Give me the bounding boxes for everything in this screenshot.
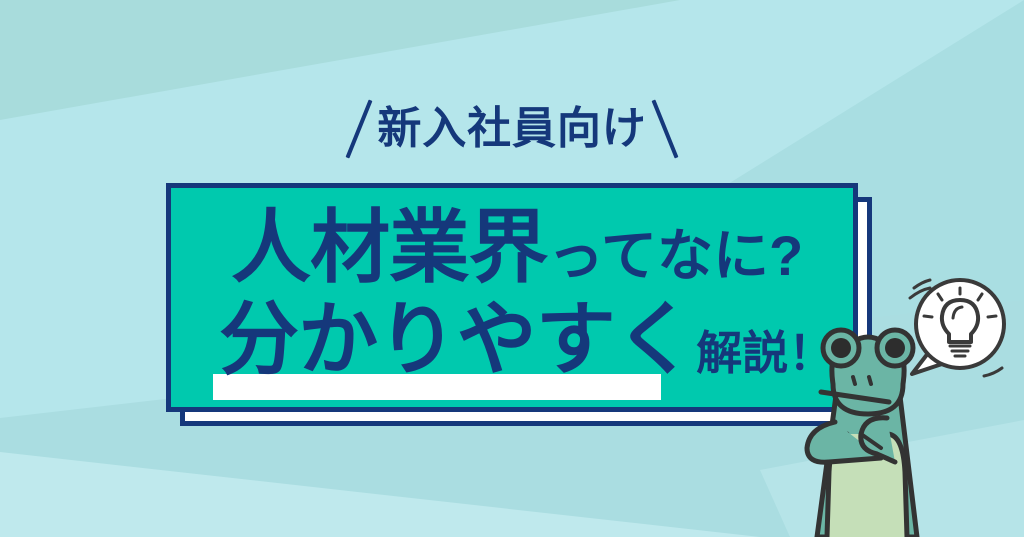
title-line-1: 人材業界 ってなに? — [231, 208, 803, 288]
ribbon-heading: 新入社員向け — [0, 96, 1024, 162]
title-text-block: 人材業界 ってなに? 分かりやすく 解説！ — [171, 188, 853, 407]
slash-right-icon — [651, 100, 678, 159]
title-line1-suffix: ってなに? — [548, 228, 803, 288]
frog-nostril-left — [853, 377, 855, 384]
slash-left-icon — [346, 100, 373, 159]
title-line1-main: 人材業界 — [231, 208, 548, 288]
motion-line-bottom — [984, 368, 1002, 376]
title-line2-main: 分かりやすく — [219, 300, 694, 380]
title-card-body: 人材業界 ってなに? 分かりやすく 解説！ — [166, 183, 858, 412]
idea-bubble — [898, 272, 1016, 387]
title-line-2: 分かりやすく 解説！ — [219, 300, 834, 380]
lightbulb-ray-left — [924, 316, 932, 317]
frog-pupil-left — [831, 338, 851, 358]
title-card: 人材業界 ってなに? 分かりやすく 解説！ — [166, 183, 872, 426]
lightbulb-ray-right — [988, 316, 996, 317]
ribbon-text: 新入社員向け — [377, 107, 646, 151]
thumbnail-banner: 新入社員向け 人材業界 ってなに? 分かりやすく 解説！ — [0, 0, 1024, 537]
motion-line-top-1 — [914, 280, 930, 288]
frog-nostril-right — [869, 377, 871, 384]
